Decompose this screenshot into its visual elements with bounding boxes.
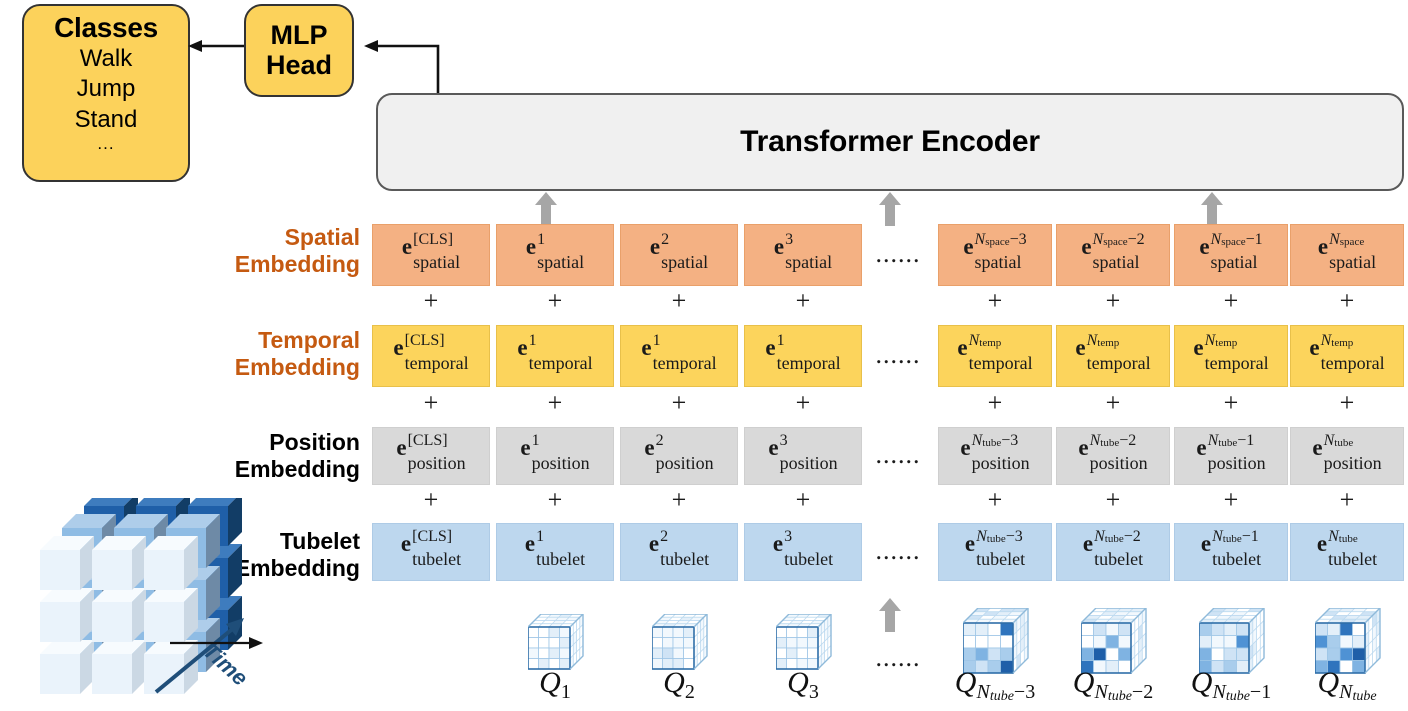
token-temporal-7: eNtemptemporal bbox=[1174, 325, 1288, 387]
row-label-temporal-line2: Embedding bbox=[180, 354, 360, 381]
embedding-symbol: e[CLS]spatial bbox=[402, 235, 460, 276]
token-tubelet-1: e[CLS]tubelet bbox=[372, 523, 490, 581]
tubelet-input-label-7: QNtube bbox=[1284, 668, 1408, 698]
embedding-symbol: e2tubelet bbox=[649, 532, 709, 573]
token-position-6: eNtube−2position bbox=[1056, 427, 1170, 485]
plus-sign-position-4: + bbox=[744, 487, 862, 513]
tubelet-input-label-1: Q1 bbox=[490, 668, 620, 698]
embedding-symbol: e[CLS]temporal bbox=[393, 336, 468, 377]
embedding-symbol: eNtube−3tubelet bbox=[965, 532, 1025, 573]
row-ellipsis-temporal: ...... bbox=[862, 342, 934, 368]
plus-sign-temporal-1: + bbox=[372, 390, 490, 416]
cube-row-ellipsis: ...... bbox=[862, 645, 934, 671]
class-item-stand: Stand bbox=[75, 105, 138, 135]
plus-sign-position-7: + bbox=[1174, 487, 1288, 513]
row-label-spatial-line1: Spatial bbox=[180, 224, 360, 251]
token-temporal-3: e1temporal bbox=[620, 325, 738, 387]
embedding-symbol: eNtemptemporal bbox=[1075, 336, 1150, 377]
class-item-jump: Jump bbox=[77, 74, 136, 104]
plus-sign-position-8: + bbox=[1290, 487, 1404, 513]
token-temporal-1: e[CLS]temporal bbox=[372, 325, 490, 387]
arrow-video-to-tubelet bbox=[168, 628, 268, 658]
embedding-symbol: e3spatial bbox=[774, 235, 832, 276]
row-label-position-line2: Embedding bbox=[180, 456, 360, 483]
plus-sign-temporal-6: + bbox=[1056, 390, 1170, 416]
arrow-encoder-to-mlp bbox=[352, 30, 452, 100]
mlp-head-label-line1: MLP bbox=[271, 21, 328, 50]
row-label-temporal-line1: Temporal bbox=[180, 327, 360, 354]
token-spatial-2: e1spatial bbox=[496, 224, 614, 286]
token-position-1: e[CLS]position bbox=[372, 427, 490, 485]
plus-sign-position-6: + bbox=[1056, 487, 1170, 513]
token-spatial-5: eNspace−3spatial bbox=[938, 224, 1052, 286]
token-temporal-2: e1temporal bbox=[496, 325, 614, 387]
plus-sign-spatial-7: + bbox=[1174, 288, 1288, 314]
token-tubelet-5: eNtube−3tubelet bbox=[938, 523, 1052, 581]
tubelet-cube bbox=[528, 614, 587, 673]
class-item-walk: Walk bbox=[80, 44, 132, 74]
token-spatial-4: e3spatial bbox=[744, 224, 862, 286]
embedding-symbol: eNspace−1spatial bbox=[1199, 235, 1262, 276]
mlp-head-box: MLP Head bbox=[244, 4, 354, 97]
row-ellipsis-position: ...... bbox=[862, 442, 934, 468]
embedding-symbol: eNtubeposition bbox=[1312, 436, 1381, 477]
plus-sign-spatial-1: + bbox=[372, 288, 490, 314]
token-position-8: eNtubeposition bbox=[1290, 427, 1404, 485]
plus-sign-temporal-5: + bbox=[938, 390, 1052, 416]
plus-sign-position-3: + bbox=[620, 487, 738, 513]
row-label-spatial-line2: Embedding bbox=[180, 251, 360, 278]
token-tubelet-4: e3tubelet bbox=[744, 523, 862, 581]
tubelet-input-label-3: Q3 bbox=[738, 668, 868, 698]
token-spatial-8: eNspacespatial bbox=[1290, 224, 1404, 286]
row-ellipsis-tubelet: ...... bbox=[862, 538, 934, 564]
tubelet-input-label-5: QNtube−2 bbox=[1050, 668, 1176, 698]
plus-sign-spatial-2: + bbox=[496, 288, 614, 314]
tubelet-embedding-arrow bbox=[878, 598, 902, 632]
token-position-7: eNtube−1position bbox=[1174, 427, 1288, 485]
embedding-symbol: eNtube−3position bbox=[960, 436, 1029, 477]
transformer-encoder-label: Transformer Encoder bbox=[740, 125, 1040, 159]
embedding-symbol: eNtubetubelet bbox=[1317, 532, 1377, 573]
plus-sign-spatial-5: + bbox=[938, 288, 1052, 314]
token-tubelet-2: e1tubelet bbox=[496, 523, 614, 581]
encoder-input-arrow-2 bbox=[878, 192, 902, 226]
plus-sign-spatial-4: + bbox=[744, 288, 862, 314]
token-tubelet-6: eNtube−2tubelet bbox=[1056, 523, 1170, 581]
embedding-symbol: eNtube−1position bbox=[1196, 436, 1265, 477]
token-tubelet-8: eNtubetubelet bbox=[1290, 523, 1404, 581]
embedding-symbol: e2position bbox=[644, 436, 713, 477]
plus-sign-temporal-8: + bbox=[1290, 390, 1404, 416]
token-tubelet-3: e2tubelet bbox=[620, 523, 738, 581]
plus-sign-position-2: + bbox=[496, 487, 614, 513]
embedding-symbol: eNtube−1tubelet bbox=[1201, 532, 1261, 573]
token-spatial-3: e2spatial bbox=[620, 224, 738, 286]
embedding-symbol: eNtemptemporal bbox=[1193, 336, 1268, 377]
embedding-symbol: eNspacespatial bbox=[1318, 235, 1376, 276]
embedding-symbol: e1temporal bbox=[765, 336, 840, 377]
token-spatial-7: eNspace−1spatial bbox=[1174, 224, 1288, 286]
token-temporal-4: e1temporal bbox=[744, 325, 862, 387]
classes-box: Classes Walk Jump Stand ... bbox=[22, 4, 190, 182]
plus-sign-position-5: + bbox=[938, 487, 1052, 513]
embedding-symbol: eNtube−2tubelet bbox=[1083, 532, 1143, 573]
plus-sign-temporal-4: + bbox=[744, 390, 862, 416]
token-spatial-6: eNspace−2spatial bbox=[1056, 224, 1170, 286]
embedding-symbol: e1tubelet bbox=[525, 532, 585, 573]
embedding-symbol: eNspace−3spatial bbox=[963, 235, 1026, 276]
token-spatial-1: e[CLS]spatial bbox=[372, 224, 490, 286]
plus-sign-spatial-8: + bbox=[1290, 288, 1404, 314]
token-position-3: e2position bbox=[620, 427, 738, 485]
transformer-encoder-box: Transformer Encoder bbox=[376, 93, 1404, 191]
row-label-position-line1: Position bbox=[180, 429, 360, 456]
plus-sign-temporal-3: + bbox=[620, 390, 738, 416]
embedding-symbol: e[CLS]tubelet bbox=[401, 532, 461, 573]
token-position-5: eNtube−3position bbox=[938, 427, 1052, 485]
tubelet-input-label-6: QNtube−1 bbox=[1168, 668, 1294, 698]
row-label-position: Position Embedding bbox=[180, 429, 360, 483]
plus-sign-spatial-6: + bbox=[1056, 288, 1170, 314]
embedding-symbol: e1spatial bbox=[526, 235, 584, 276]
embedding-symbol: eNspace−2spatial bbox=[1081, 235, 1144, 276]
plus-sign-spatial-3: + bbox=[620, 288, 738, 314]
embedding-symbol: eNtube−2position bbox=[1078, 436, 1147, 477]
mlp-head-label-line2: Head bbox=[266, 51, 332, 80]
token-temporal-8: eNtemptemporal bbox=[1290, 325, 1404, 387]
tubelet-input-label-2: Q2 bbox=[614, 668, 744, 698]
embedding-symbol: e1position bbox=[520, 436, 589, 477]
row-label-temporal: Temporal Embedding bbox=[180, 327, 360, 381]
plus-sign-position-1: + bbox=[372, 487, 490, 513]
token-position-2: e1position bbox=[496, 427, 614, 485]
row-label-spatial: Spatial Embedding bbox=[180, 224, 360, 278]
embedding-symbol: eNtemptemporal bbox=[957, 336, 1032, 377]
row-ellipsis-spatial: ...... bbox=[862, 241, 934, 267]
classes-title: Classes bbox=[54, 12, 158, 44]
encoder-input-arrow-3 bbox=[1200, 192, 1224, 226]
token-position-4: e3position bbox=[744, 427, 862, 485]
plus-sign-temporal-2: + bbox=[496, 390, 614, 416]
tubelet-cube bbox=[652, 614, 711, 673]
plus-sign-temporal-7: + bbox=[1174, 390, 1288, 416]
class-item-more: ... bbox=[97, 135, 114, 152]
embedding-symbol: e[CLS]position bbox=[396, 436, 465, 477]
embedding-symbol: e3tubelet bbox=[773, 532, 833, 573]
tubelet-cube bbox=[776, 614, 835, 673]
tubelet-input-label-4: QNtube−3 bbox=[932, 668, 1058, 698]
arrow-mlp-to-classes bbox=[186, 30, 248, 70]
token-temporal-6: eNtemptemporal bbox=[1056, 325, 1170, 387]
embedding-symbol: e1temporal bbox=[641, 336, 716, 377]
embedding-symbol: e1temporal bbox=[517, 336, 592, 377]
embedding-symbol: e2spatial bbox=[650, 235, 708, 276]
embedding-symbol: e3position bbox=[768, 436, 837, 477]
embedding-symbol: eNtemptemporal bbox=[1309, 336, 1384, 377]
token-tubelet-7: eNtube−1tubelet bbox=[1174, 523, 1288, 581]
token-temporal-5: eNtemptemporal bbox=[938, 325, 1052, 387]
encoder-input-arrow-1 bbox=[534, 192, 558, 226]
diagram-canvas: Classes Walk Jump Stand ... MLP Head Tra… bbox=[0, 0, 1408, 711]
